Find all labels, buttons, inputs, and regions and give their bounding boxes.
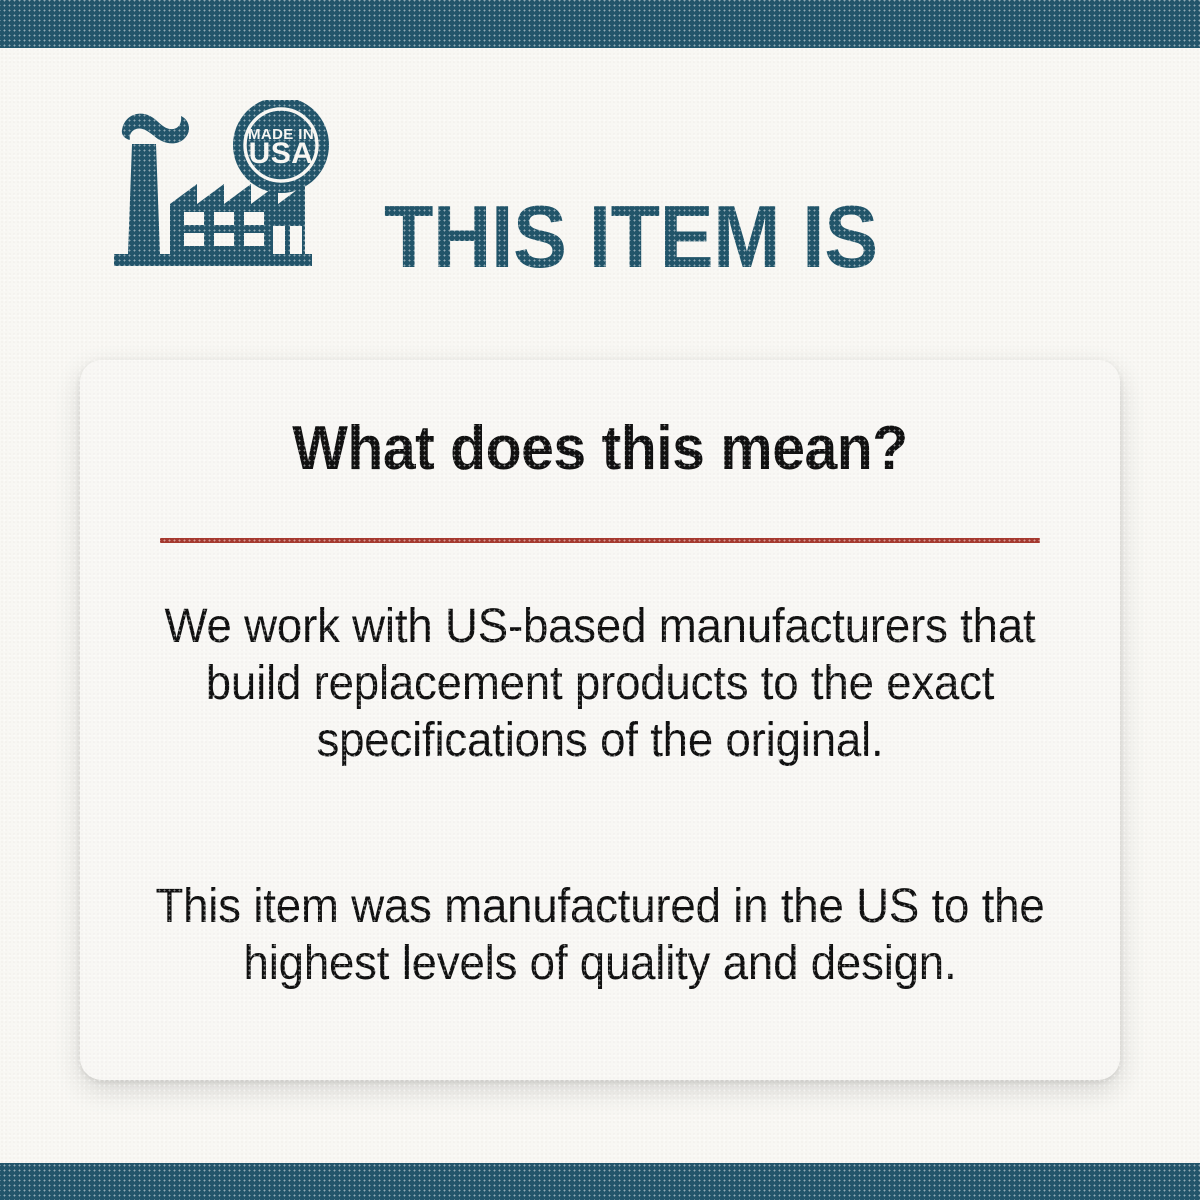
info-card: What does this mean? We work with US-bas… xyxy=(80,360,1120,1080)
bottom-accent-bar xyxy=(0,1163,1200,1200)
page-root: MADE IN USA THIS ITEM IS MADE IN THE USA… xyxy=(0,0,1200,1200)
card-divider xyxy=(160,538,1040,543)
card-heading: What does this mean? xyxy=(106,418,1094,480)
top-accent-bar xyxy=(0,0,1200,48)
card-paragraph-1: We work with US-based manufacturers that… xyxy=(144,598,1056,769)
page-title-line-1: THIS ITEM IS xyxy=(384,193,1097,280)
card-paragraph-2: This item was manufactured in the US to … xyxy=(144,878,1056,992)
factory-made-in-usa-icon: MADE IN USA xyxy=(100,100,340,280)
badge-usa-text: USA xyxy=(249,137,314,170)
header: MADE IN USA THIS ITEM IS MADE IN THE USA xyxy=(0,48,1200,308)
